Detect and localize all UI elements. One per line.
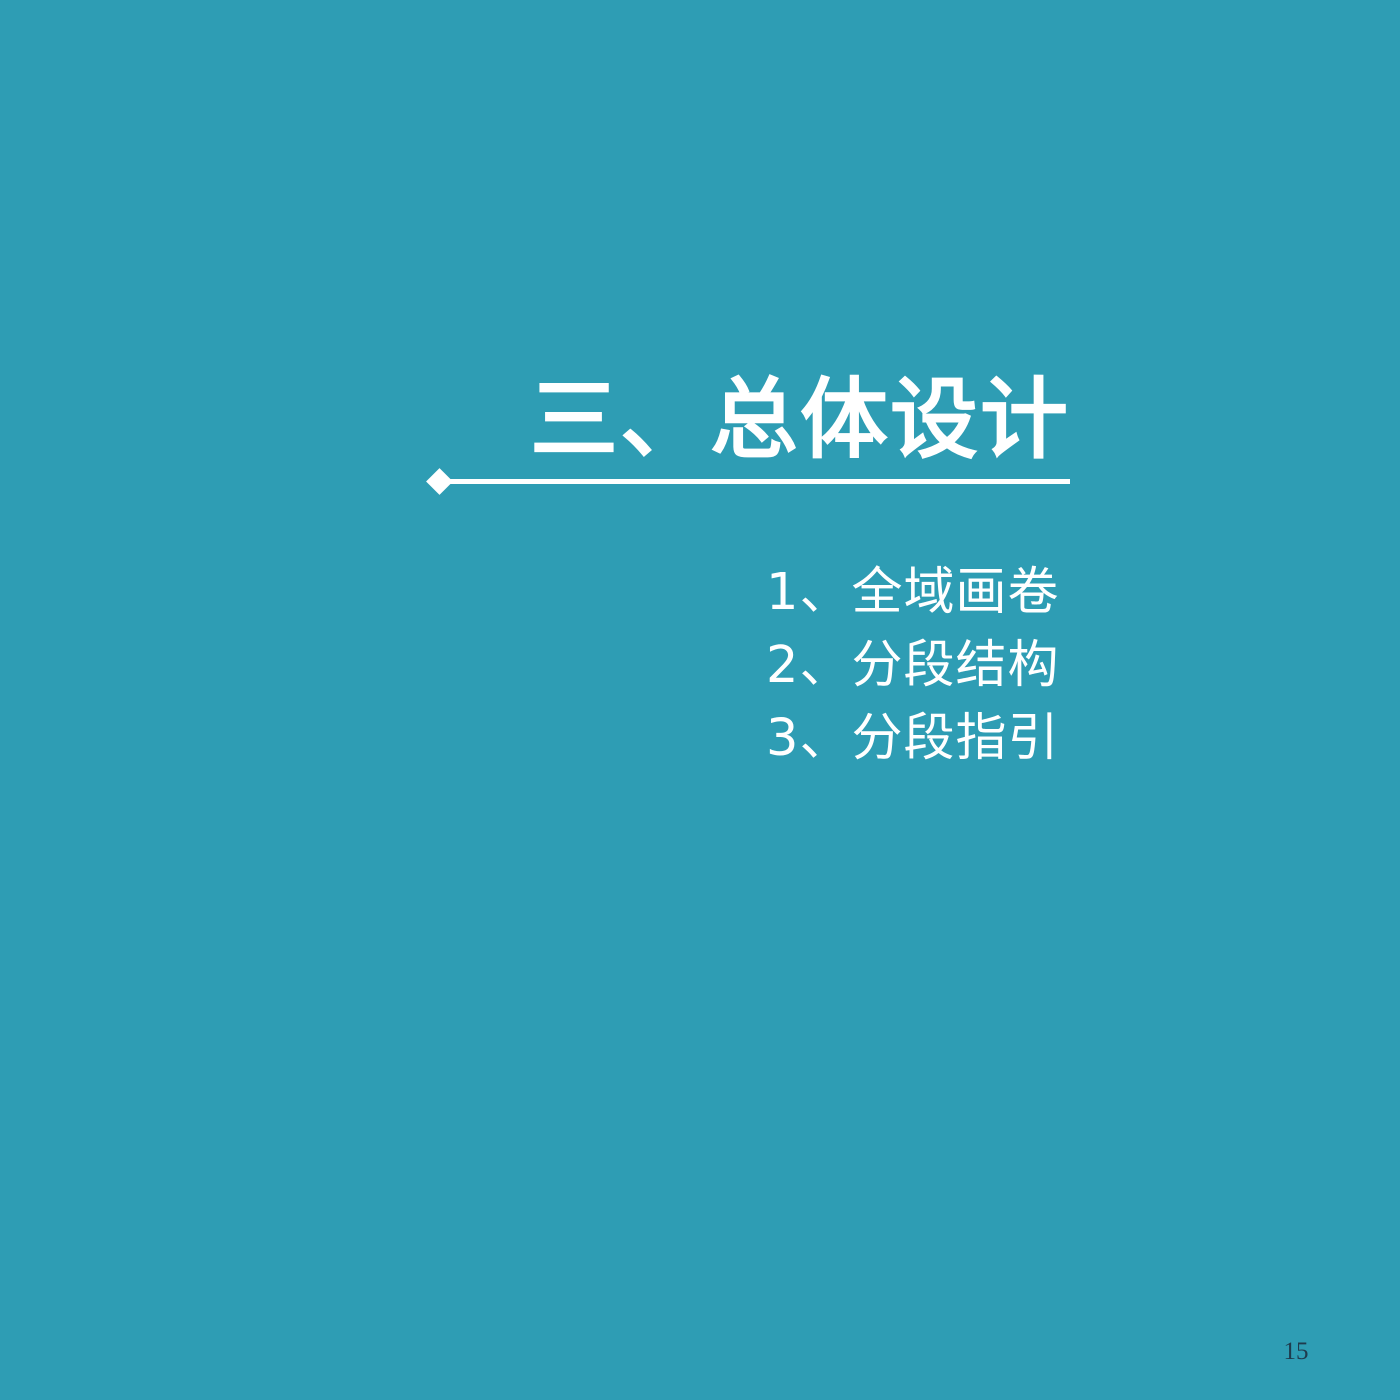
- page-number: 15: [1268, 1336, 1324, 1368]
- divider-line: [442, 479, 1070, 484]
- presentation-slide: 三、总体设计 1、全域画卷 2、分段结构 3、分段指引 15: [0, 0, 1400, 1400]
- agenda-list: 1、全域画卷 2、分段结构 3、分段指引: [766, 556, 1076, 775]
- title-divider: [430, 468, 1070, 494]
- agenda-item-3: 3、分段指引: [766, 702, 1076, 775]
- agenda-item-2: 2、分段结构: [766, 629, 1076, 702]
- agenda-item-1: 1、全域画卷: [766, 556, 1076, 629]
- page-title: 三、总体设计: [530, 368, 1070, 472]
